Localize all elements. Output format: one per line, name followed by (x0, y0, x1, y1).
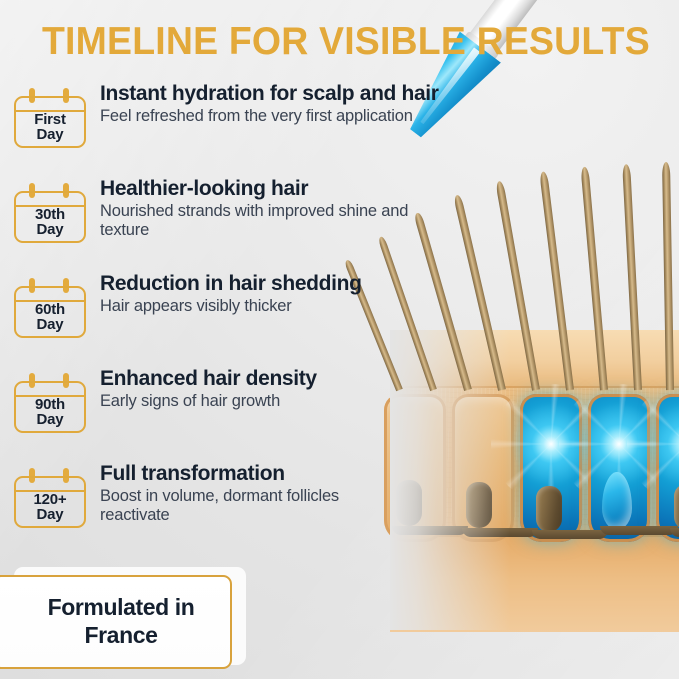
timeline-item-heading: Healthier-looking hair (100, 177, 440, 201)
calendar-label-line1: 90th (14, 397, 86, 412)
timeline-item-subtext: Early signs of hair growth (100, 392, 460, 411)
calendar-icon: 60th Day (14, 278, 86, 336)
timeline-item-heading: Instant hydration for scalp and hair (100, 82, 460, 106)
timeline-item-text: Enhanced hair density Early signs of hai… (100, 367, 460, 411)
calendar-label-line2: Day (14, 317, 86, 332)
formulated-in-france-badge: Formulated in France (0, 575, 232, 669)
timeline-item: 30th Day Healthier-looking hair Nourishe… (0, 177, 470, 272)
calendar-icon: 30th Day (14, 183, 86, 241)
timeline-item-text: Reduction in hair shedding Hair appears … (100, 272, 460, 316)
timeline-item-subtext: Feel refreshed from the very first appli… (100, 107, 460, 126)
calendar-icon: 120+ Day (14, 468, 86, 526)
calendar-label-line1: 120+ (14, 492, 86, 507)
hair-strand (539, 171, 574, 390)
hair-strand (495, 181, 540, 391)
timeline-item-subtext: Nourished strands with improved shine an… (100, 202, 440, 240)
timeline-item-subtext: Boost in volume, dormant follicles react… (100, 487, 360, 525)
timeline-item-text: Healthier-looking hair Nourished strands… (100, 177, 440, 240)
timeline-item-text: Full transformation Boost in volume, dor… (100, 462, 360, 525)
hair-strand (662, 162, 674, 390)
timeline-item-heading: Enhanced hair density (100, 367, 460, 391)
calendar-label: 60th Day (14, 302, 86, 333)
calendar-label-line1: 60th (14, 302, 86, 317)
timeline-item: 120+ Day Full transformation Boost in vo… (0, 462, 470, 557)
badge-label: Formulated in France (0, 594, 230, 649)
timeline-item-heading: Full transformation (100, 462, 360, 486)
timeline-item: 60th Day Reduction in hair shedding Hair… (0, 272, 470, 367)
calendar-label-line2: Day (14, 222, 86, 237)
calendar-icon: First Day (14, 88, 86, 146)
calendar-label: 90th Day (14, 397, 86, 428)
timeline-list: First Day Instant hydration for scalp an… (0, 82, 470, 557)
hair-strand (622, 164, 642, 390)
calendar-icon: 90th Day (14, 373, 86, 431)
timeline-item-subtext: Hair appears visibly thicker (100, 297, 460, 316)
calendar-label-line2: Day (14, 412, 86, 427)
calendar-label-line2: Day (14, 127, 86, 142)
timeline-item-text: Instant hydration for scalp and hair Fee… (100, 82, 460, 126)
calendar-label-line1: 30th (14, 207, 86, 222)
calendar-label-line2: Day (14, 507, 86, 522)
calendar-label-line1: First (14, 112, 86, 127)
poster: TIMELINE FOR VISIBLE RESULTS First Day I… (0, 0, 679, 679)
hair-strand (580, 167, 607, 391)
formulated-badge-wrapper: Formulated in France (0, 562, 250, 672)
page-title: TIMELINE FOR VISIBLE RESULTS (42, 22, 650, 61)
calendar-label: First Day (14, 112, 86, 143)
calendar-label: 120+ Day (14, 492, 86, 523)
calendar-label: 30th Day (14, 207, 86, 238)
timeline-item: First Day Instant hydration for scalp an… (0, 82, 470, 177)
timeline-item: 90th Day Enhanced hair density Early sig… (0, 367, 470, 462)
timeline-item-heading: Reduction in hair shedding (100, 272, 460, 296)
